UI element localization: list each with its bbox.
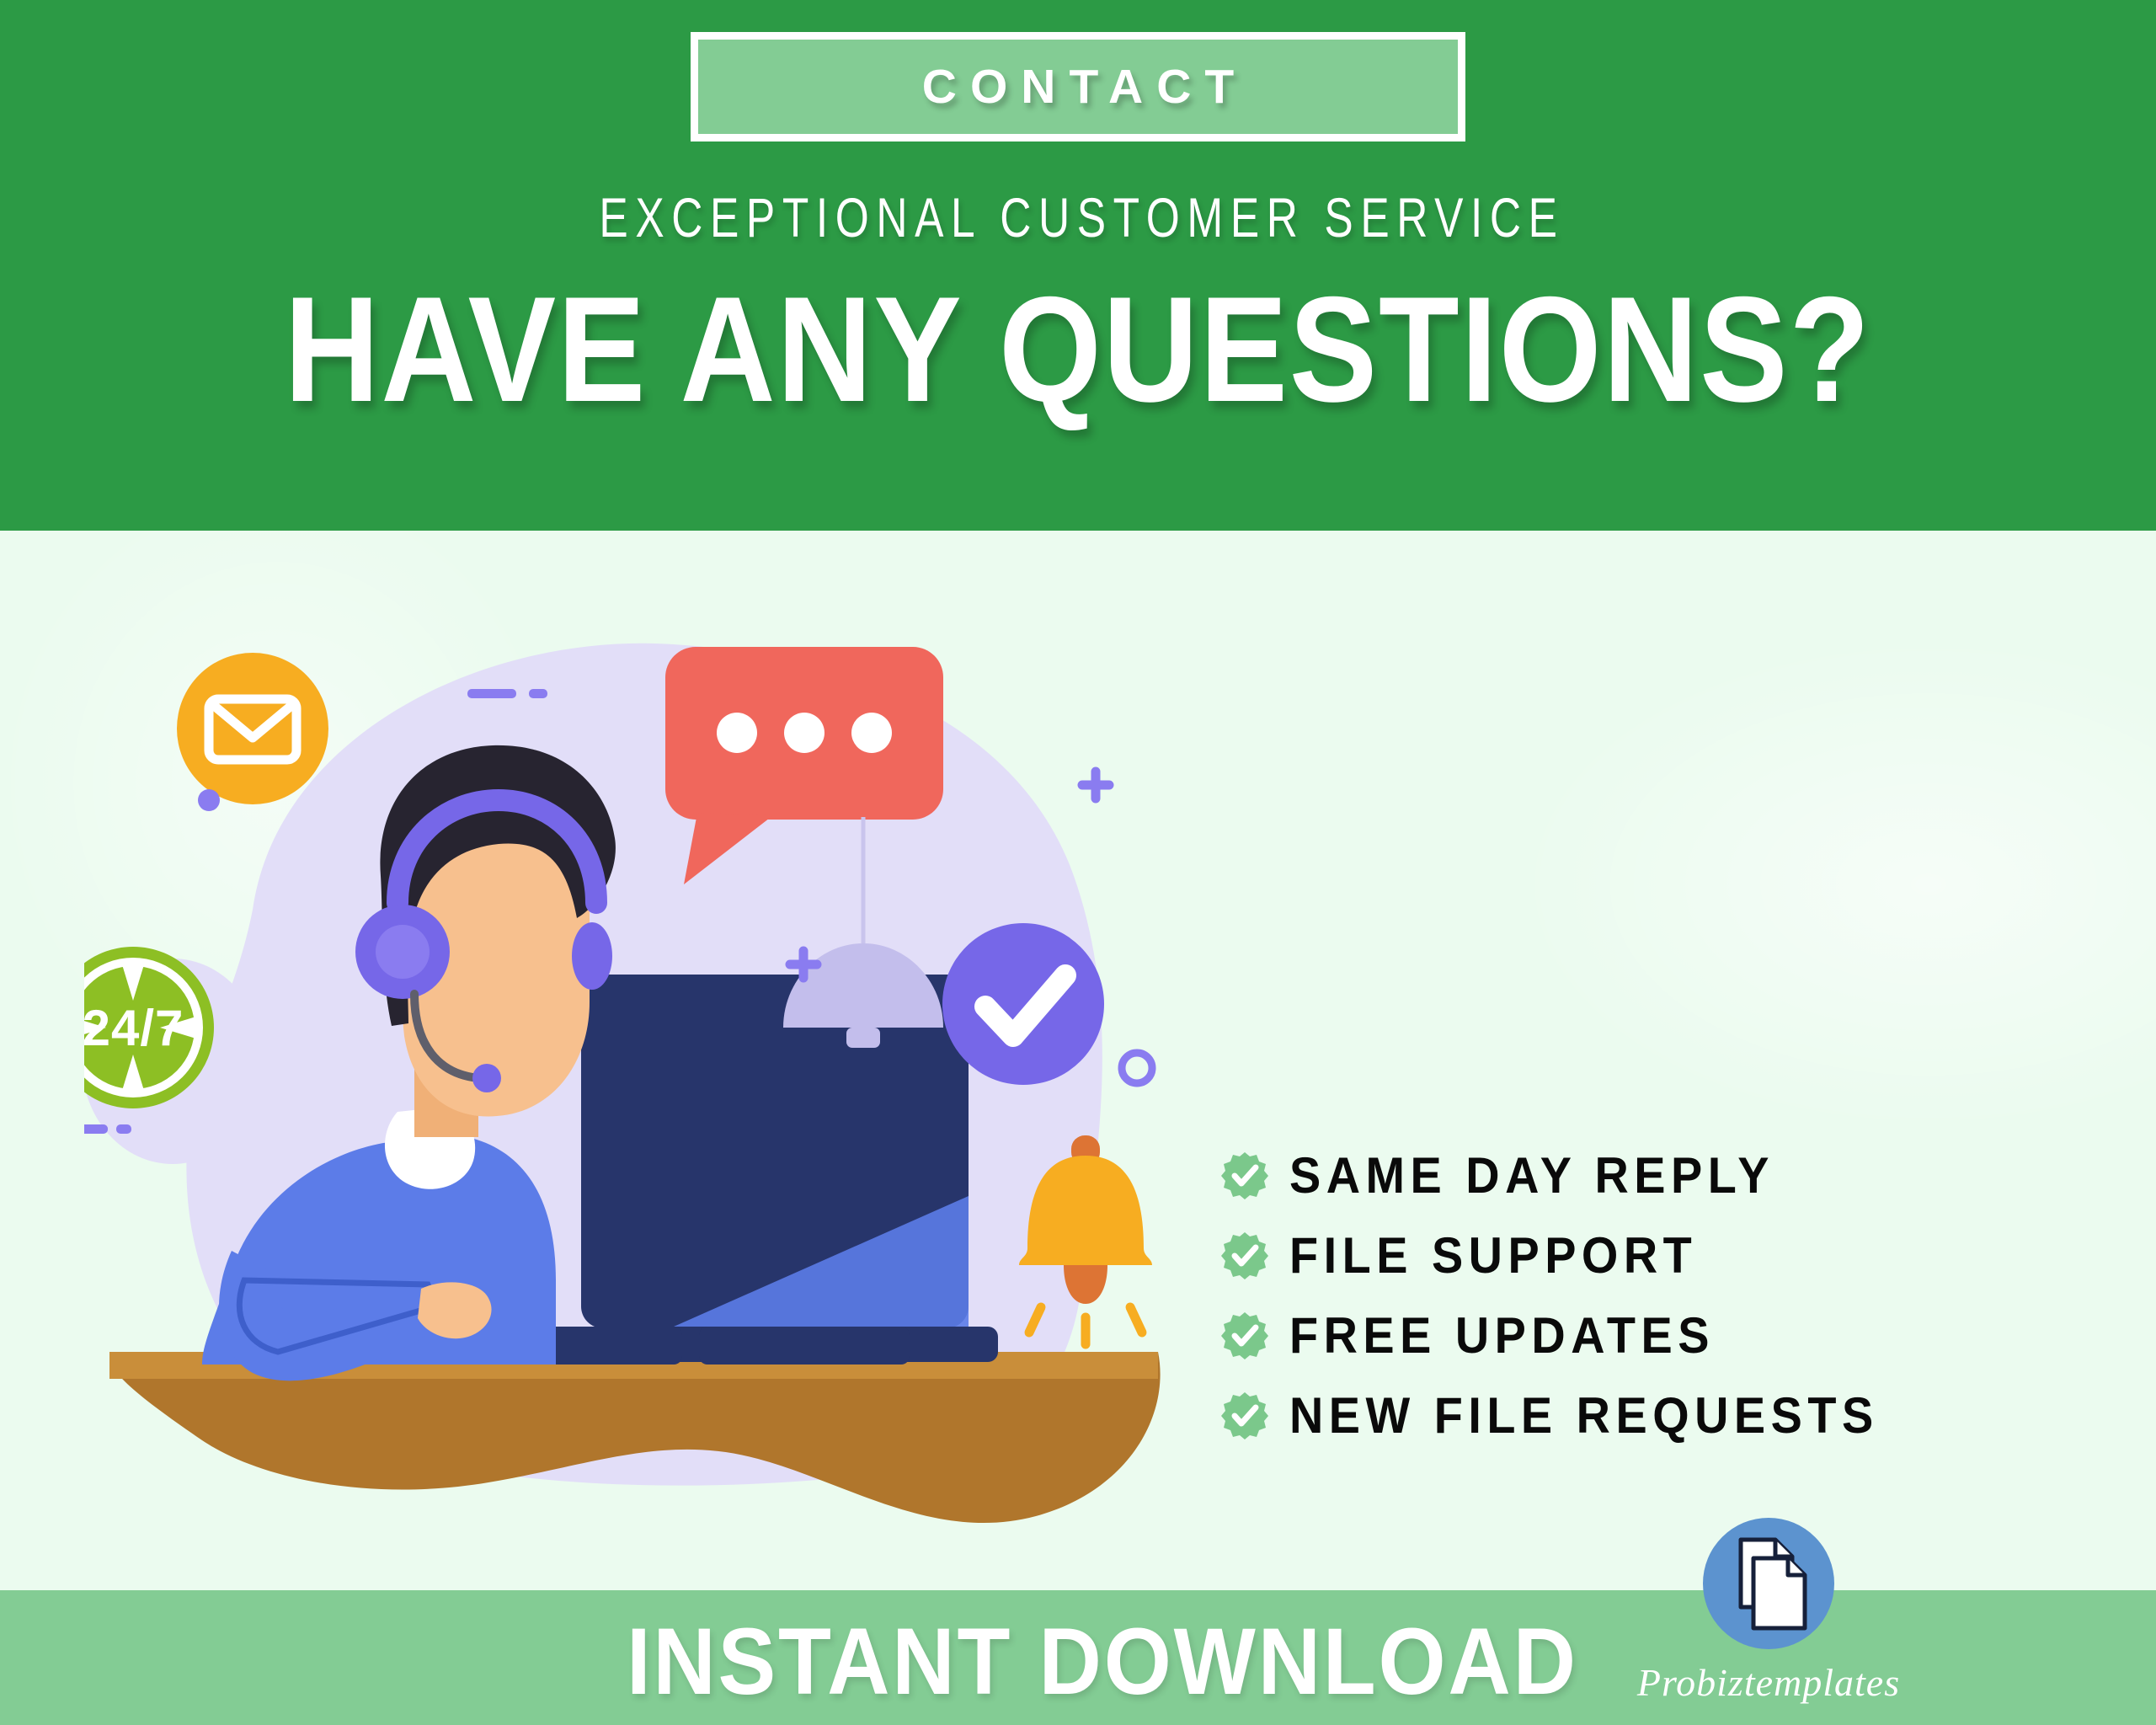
support-agent-illustration: 24/7 (84, 531, 1221, 1590)
brand-logo: Probiztemplates (1634, 1516, 1903, 1705)
decor-plus-1 (1082, 772, 1109, 798)
header-subtitle: EXCEPTIONAL CUSTOMER SERVICE (592, 185, 1565, 249)
feature-list: SAME DAY REPLY FILE SUPPORT (1219, 1135, 2112, 1455)
verified-badge-icon (1219, 1231, 1270, 1281)
documents-icon (1701, 1640, 1836, 1654)
feature-label: FILE SUPPORT (1289, 1226, 1697, 1284)
decor-dash-1 (467, 689, 516, 698)
brand-name: Probiztemplates (1634, 1660, 1903, 1705)
contact-badge-label: CONTACT (909, 59, 1247, 115)
contact-badge: CONTACT (691, 32, 1465, 142)
decor-dash-3 (84, 1124, 108, 1134)
check-circle-icon (942, 923, 1104, 1085)
decor-dash-4 (116, 1124, 131, 1134)
feature-label: FREE UPDATES (1289, 1306, 1715, 1365)
decor-dot-1 (198, 789, 220, 811)
decor-ring (1122, 1053, 1152, 1083)
main-content: 24/7 (0, 531, 2156, 1590)
verified-badge-icon (1219, 1391, 1270, 1441)
keyboard-second (699, 1327, 910, 1365)
verified-badge-icon (1219, 1311, 1270, 1361)
page-title: HAVE ANY QUESTIONS? (285, 271, 1871, 429)
feature-label: SAME DAY REPLY (1289, 1146, 1774, 1204)
headset-earcup-right (572, 922, 612, 990)
headset-mic-tip (472, 1064, 501, 1092)
feature-item: SAME DAY REPLY (1219, 1135, 2112, 1215)
feature-label: NEW FILE REQUESTS (1289, 1386, 1879, 1445)
clock-badge-label: 24/7 (84, 1000, 184, 1056)
agent-hand (418, 1282, 492, 1338)
verified-badge-icon (1219, 1151, 1270, 1201)
header-band: CONTACT EXCEPTIONAL CUSTOMER SERVICE HAV… (0, 0, 2156, 531)
feature-item: FREE UPDATES (1219, 1295, 2112, 1375)
envelope-icon (177, 653, 328, 804)
decor-dash-2 (529, 689, 547, 698)
poster-canvas: CONTACT EXCEPTIONAL CUSTOMER SERVICE HAV… (0, 0, 2156, 1725)
feature-item: FILE SUPPORT (1219, 1215, 2112, 1295)
headset-earcup-left-inner (376, 925, 430, 979)
feature-item: NEW FILE REQUESTS (1219, 1375, 2112, 1455)
instant-download-label: INSTANT DOWNLOAD (627, 1607, 1578, 1716)
